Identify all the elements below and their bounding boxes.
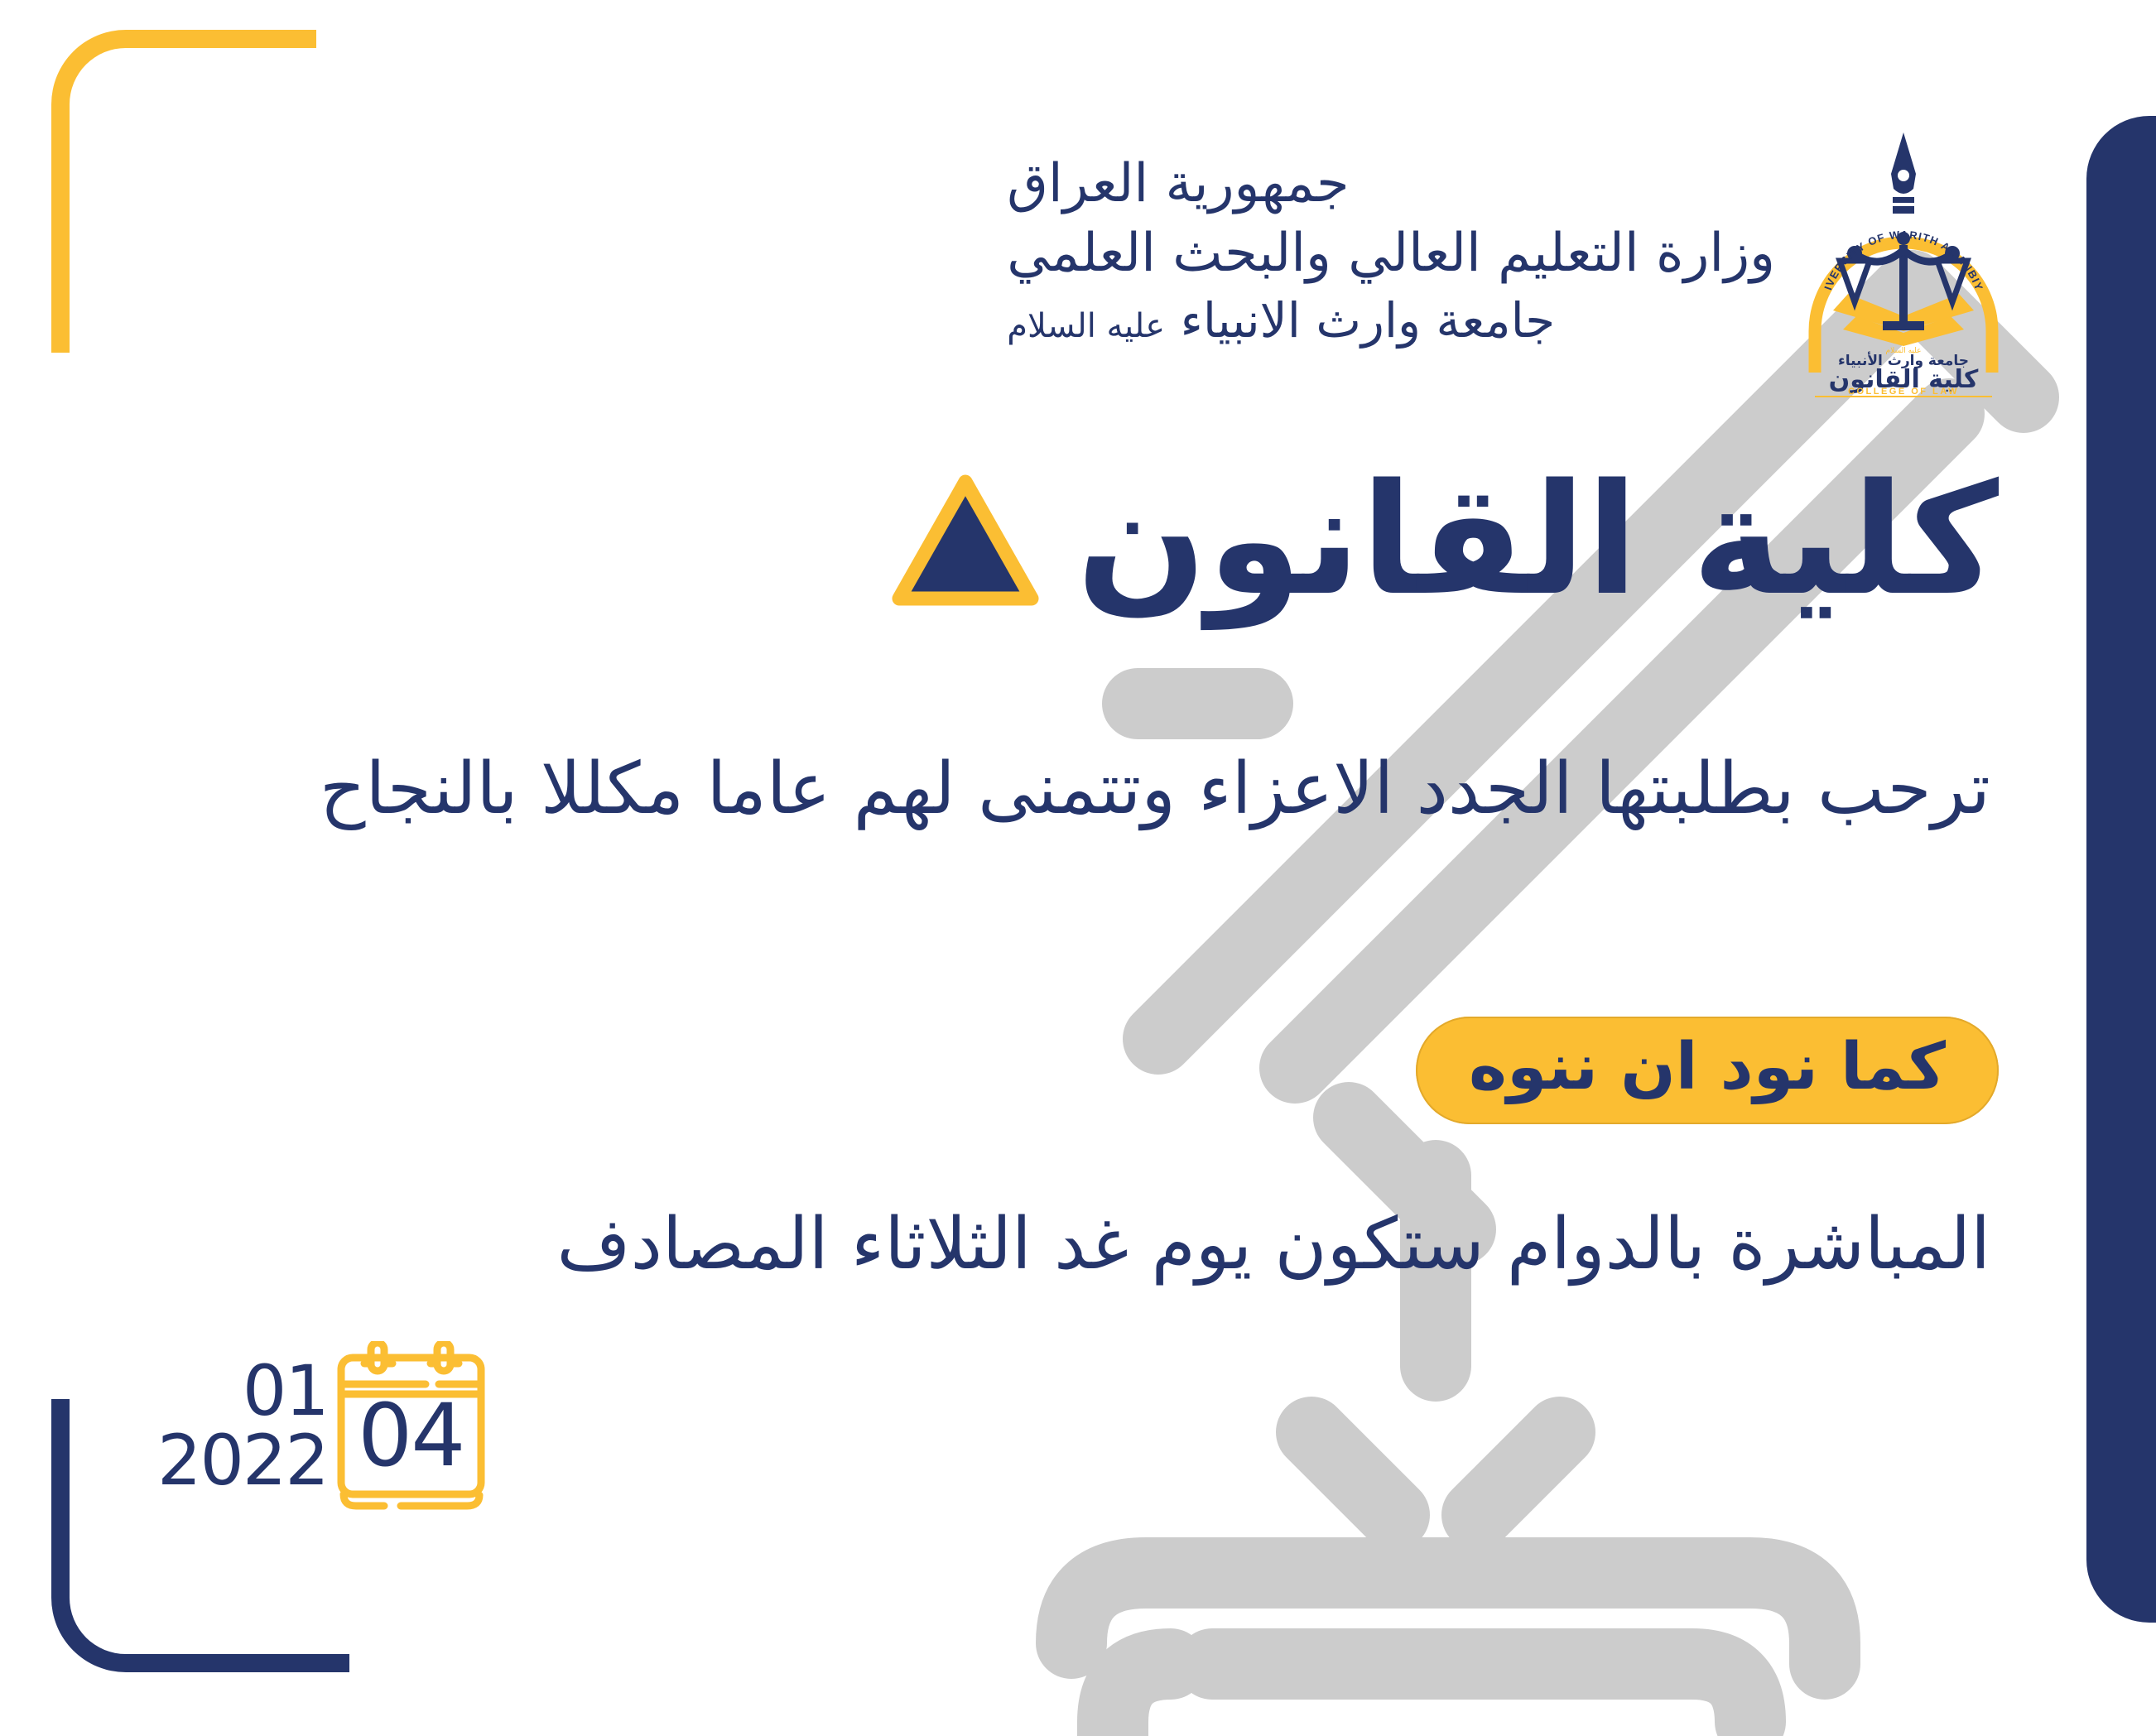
- ministry-line-ministry: وزارة التعليم العالي والبحث العلمي: [1007, 219, 1775, 288]
- poster-header: UNIVERSITY OF WARITH AL ANBIYAA عليه الس…: [1007, 124, 2007, 397]
- date-month-year: 01 2022: [157, 1357, 334, 1494]
- university-logo: UNIVERSITY OF WARITH AL ANBIYAA عليه الس…: [1800, 124, 2007, 397]
- date-block: 01 2022 04: [157, 1341, 488, 1511]
- notice-badge: كما نود ان ننوه: [1416, 1017, 1999, 1124]
- calendar-icon: 04: [334, 1341, 488, 1511]
- ministry-heading: جمهورية العراق وزارة التعليم العالي والب…: [1007, 124, 1775, 352]
- date-month: 01: [157, 1357, 328, 1425]
- ministry-line-university: جامعة وارث الانبياء عليه السلام: [1007, 289, 1775, 353]
- welcome-text: ترحب بطلبتها الجدد الاعزاء وتتمنى لهم عا…: [320, 745, 1990, 834]
- page-title: كلية القانون: [1076, 464, 1999, 617]
- main-title-row: كلية القانون: [891, 464, 1999, 617]
- logo-college-name-en: COLLEGE OF LAW: [1848, 387, 1959, 397]
- ministry-line-country: جمهورية العراق: [1007, 149, 1775, 219]
- ministry-university-name: جامعة وارث الانبياء: [1181, 292, 1556, 349]
- schedule-text: المباشرة بالدوام ستكون يوم غد الثلاثاء ا…: [556, 1200, 1990, 1290]
- watermark-logo-glyph: [864, 207, 2065, 1736]
- calendar-day-number: 04: [334, 1392, 488, 1479]
- ministry-university-honorific: عليه السلام: [1007, 307, 1165, 345]
- corner-bracket-top-left: [51, 30, 316, 353]
- announcement-poster: UNIVERSITY OF WARITH AL ANBIYAA عليه الس…: [0, 0, 2156, 1736]
- triangle-icon: [891, 472, 1040, 608]
- side-accent-bar: [2086, 116, 2156, 1623]
- date-year: 2022: [157, 1426, 328, 1495]
